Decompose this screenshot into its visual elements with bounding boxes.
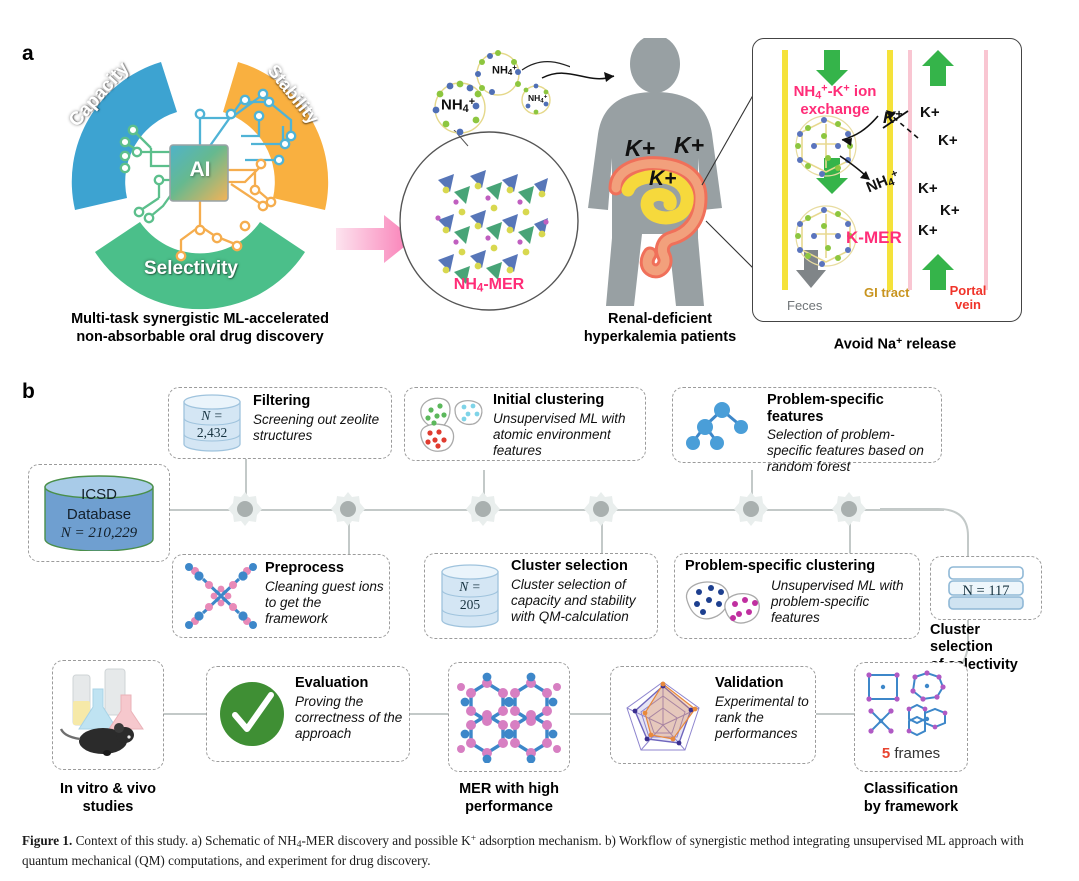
portal-k-label-1: K+ <box>920 104 940 121</box>
workflow-node-5 <box>734 492 768 526</box>
cluster-selection-n-line2: 205 <box>439 596 501 614</box>
workflow-node-3 <box>466 492 500 526</box>
mer-caption-line2: performance <box>424 798 594 816</box>
figure-caption-bold: Figure 1. <box>22 833 72 848</box>
portal-vein-line2: vein <box>955 297 981 312</box>
validation-text: Validation Experimental to rank the perf… <box>715 675 809 742</box>
workflow-node-4 <box>584 492 618 526</box>
wire-row3-4 <box>812 713 854 715</box>
panel-a-left-caption: Multi-task synergistic ML-accelerated no… <box>20 310 380 346</box>
portal-k-label-2: K+ <box>938 132 958 149</box>
panel-a-mid-caption: Renal-deficient hyperkalemia patients <box>565 310 755 346</box>
workflow-node-2 <box>331 492 365 526</box>
frames-label: frames <box>890 745 940 762</box>
portal-vein-label: Portal vein <box>938 284 998 313</box>
panel-a-mid-caption-line1: Renal-deficient <box>565 310 755 328</box>
exchange-label: NH4+-K+ ionexchange <box>780 82 890 119</box>
icsd-database-text: ICSD Database N = 210,229 <box>29 485 169 544</box>
problem-features-title: Problem-specific features <box>767 392 935 425</box>
step-cluster-selection-box[interactable]: N = 205 Cluster selection Cluster select… <box>424 553 658 639</box>
classification-box[interactable]: 5 frames <box>854 662 968 772</box>
panel-a-left-caption-line2: non-absorbable oral drug discovery <box>20 328 380 346</box>
wire-row3-3 <box>568 713 610 715</box>
feces-label: Feces <box>787 298 822 313</box>
problem-clustering-title: Problem-specific clustering <box>685 558 911 575</box>
mer-caption: MER with high performance <box>424 780 594 816</box>
classification-caption: Classification by framework <box>836 780 986 816</box>
k-blocked-label: K+ <box>883 107 902 128</box>
classification-caption-line2: by framework <box>836 798 986 816</box>
portal-k-label-4: K+ <box>940 202 960 219</box>
step-preprocess-box[interactable]: Preprocess Cleaning guest ions to get th… <box>172 554 390 638</box>
cluster-selection-text: Cluster selection Cluster selection of c… <box>511 558 653 625</box>
cluster-selection-title: Cluster selection <box>511 558 653 575</box>
selectivity-cyl-label: N = 117 <box>931 583 1041 600</box>
in-vitro-box[interactable] <box>52 660 164 770</box>
step-problem-clustering-box[interactable]: Problem-specific clustering Unsupervised… <box>674 553 920 639</box>
nh4-mer-label: NH4-MER <box>398 276 580 295</box>
evaluation-box[interactable]: Evaluation Proving the correctness of th… <box>206 666 410 762</box>
filtering-cyl-text: N = 2,432 <box>181 408 243 442</box>
filtering-n-line1: N = <box>181 408 243 425</box>
figure-caption: Figure 1. Context of this study. a) Sche… <box>22 832 1062 870</box>
nh4-cluster-label-2: NH4+ <box>441 96 475 115</box>
preprocess-text: Preprocess Cleaning guest ions to get th… <box>265 560 385 627</box>
panel-b-letter: b <box>22 380 35 404</box>
problem-features-text: Problem-specific features Selection of p… <box>767 392 935 476</box>
k-mer-label: K-MER <box>846 228 902 248</box>
figure-caption-text: Context of this study. a) Schematic of N… <box>22 833 1024 868</box>
workflow-node-1 <box>228 492 262 526</box>
filtering-text: Filtering Screening out zeolite structur… <box>253 393 385 444</box>
cluster-selection-desc: Cluster selection of capacity and stabil… <box>511 577 653 625</box>
step-problem-features-box[interactable]: Problem-specific features Selection of p… <box>672 387 942 463</box>
body-k-label-1: K+ <box>625 135 655 162</box>
panel-a-right-caption: Avoid Na+ release <box>810 335 980 354</box>
radar-chart-icon <box>621 677 705 755</box>
validation-desc: Experimental to rank the performances <box>715 694 809 742</box>
arc-label-selectivity: Selectivity <box>144 258 238 280</box>
selectivity-caption-line2: selection <box>930 639 1048 656</box>
evaluation-title: Evaluation <box>295 675 403 692</box>
step-filtering-box[interactable]: N = 2,432 Filtering Screening out zeolit… <box>168 387 392 459</box>
wire-row3-2 <box>406 713 448 715</box>
filtering-n-line2: 2,432 <box>181 425 243 442</box>
panel-a-letter: a <box>22 42 34 66</box>
problem-clustering-desc: Unsupervised ML with problem-specific fe… <box>771 578 909 626</box>
classification-caption-line1: Classification <box>836 780 986 798</box>
initial-clustering-text: Initial clustering Unsupervised ML with … <box>493 392 639 459</box>
icsd-name-line1: ICSD <box>29 485 169 505</box>
mer-caption-line1: MER with high <box>424 780 594 798</box>
mer-framework-box[interactable] <box>448 662 570 772</box>
nh4-cluster-label-1: NH4+ <box>492 63 517 77</box>
icsd-count: N = 210,229 <box>29 524 169 544</box>
selectivity-cylinder-box[interactable]: N = 117 <box>930 556 1042 620</box>
panel-a-mid-caption-line2: hyperkalemia patients <box>565 328 755 346</box>
in-vitro-caption-line1: In vitro & vivo <box>20 780 196 798</box>
selectivity-caption-line1: Cluster <box>930 622 1048 639</box>
filtering-title: Filtering <box>253 393 385 410</box>
leader-lines-mechanism <box>700 75 760 310</box>
in-vitro-caption-line2: studies <box>20 798 196 816</box>
problem-features-desc: Selection of problem-specific features b… <box>767 427 935 475</box>
ai-chip-label: AI <box>170 158 230 182</box>
workflow-backbone <box>164 509 944 511</box>
in-vitro-caption: In vitro & vivo studies <box>20 780 196 816</box>
body-k-label-3: K+ <box>649 167 676 191</box>
portal-vein-line1: Portal <box>950 283 987 298</box>
portal-k-label-3: K+ <box>918 180 938 197</box>
wire-row3-1 <box>162 713 206 715</box>
workflow-node-6 <box>832 492 866 526</box>
initial-clustering-desc: Unsupervised ML with atomic environment … <box>493 411 639 459</box>
frames-count: 5 <box>882 745 890 762</box>
validation-title: Validation <box>715 675 809 692</box>
frames-count-label: 5 frames <box>855 745 967 762</box>
initial-clustering-title: Initial clustering <box>493 392 639 409</box>
evaluation-desc: Proving the correctness of the approach <box>295 694 403 742</box>
icsd-name-line2: Database <box>29 505 169 525</box>
portal-k-label-5: K+ <box>918 222 938 239</box>
icsd-database-box[interactable]: ICSD Database N = 210,229 <box>28 464 170 562</box>
validation-box[interactable]: Validation Experimental to rank the perf… <box>610 666 816 764</box>
cluster-selection-n-line1: N = <box>439 578 501 596</box>
evaluation-text: Evaluation Proving the correctness of th… <box>295 675 403 742</box>
panel-a-left-caption-line1: Multi-task synergistic ML-accelerated <box>20 310 380 328</box>
preprocess-title: Preprocess <box>265 560 385 577</box>
filtering-desc: Screening out zeolite structures <box>253 412 385 444</box>
preprocess-desc: Cleaning guest ions to get the framework <box>265 579 385 627</box>
cluster-selection-cyl-text: N = 205 <box>439 578 501 613</box>
gi-tract-label: GI tract <box>864 285 910 300</box>
step-initial-clustering-box[interactable]: Initial clustering Unsupervised ML with … <box>404 387 646 461</box>
